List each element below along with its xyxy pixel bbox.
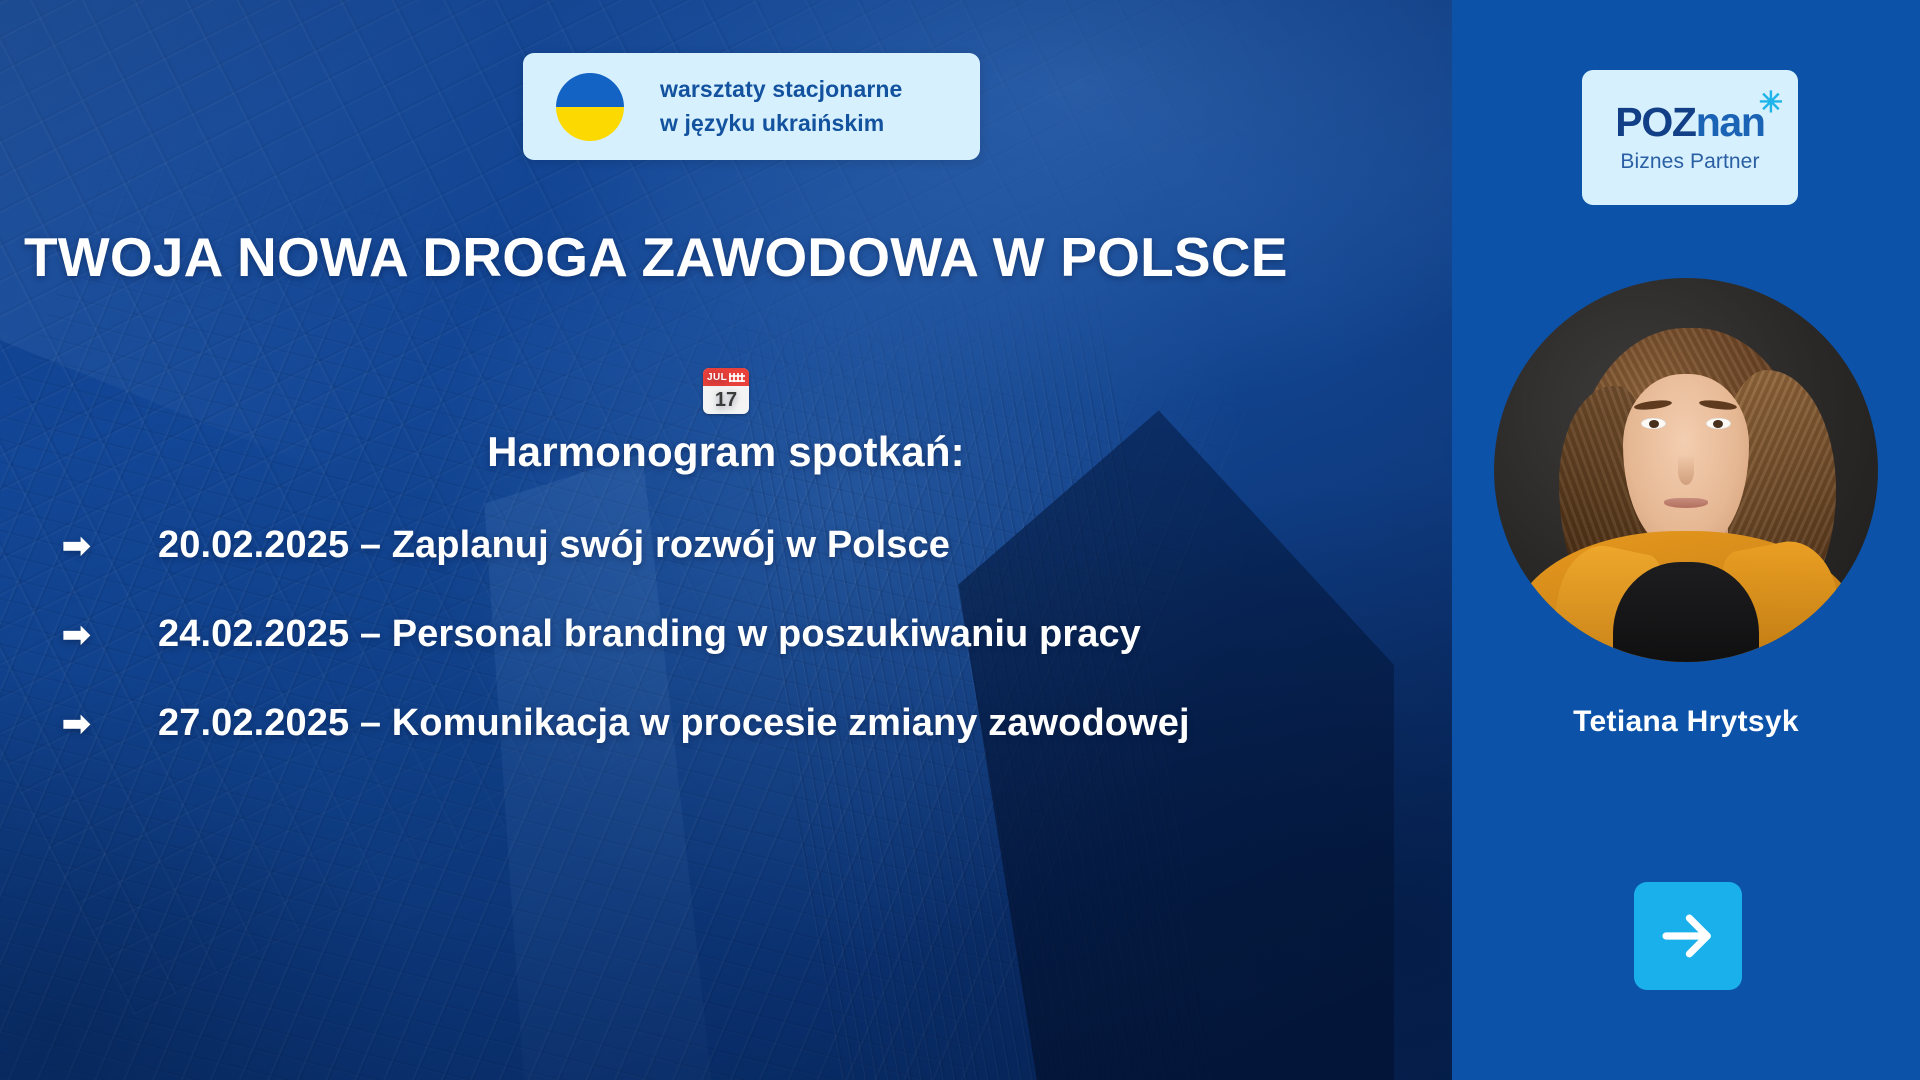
avatar [1494,278,1878,662]
schedule-item: ➡24.02.2025 – Personal branding w poszuk… [110,609,1344,660]
logo-poz-text: POZ [1615,99,1695,145]
schedule-item: ➡27.02.2025 – Komunikacja w procesie zmi… [110,698,1344,749]
badge-label: warsztaty stacjonarne w języku ukraiński… [660,73,902,140]
logo-subtitle: Biznes Partner [1620,150,1759,174]
schedule-item-text: 27.02.2025 – Komunikacja w procesie zmia… [158,702,1190,744]
portrait-pupil-left [1649,420,1659,428]
arrow-right-icon [1655,903,1721,969]
calendar-binding-dots-icon [729,373,745,382]
portrait-pupil-right [1713,420,1723,428]
speaker-name: Tetiana Hrytsyk [1452,705,1920,739]
schedule-item-text: 24.02.2025 – Personal branding w poszuki… [158,613,1141,655]
arrow-right-bullet-icon: ➡ [110,702,144,748]
portrait-mouth [1664,498,1708,508]
schedule-block: JUL 17 Harmonogram spotkań: ➡20.02.2025 … [0,368,1452,749]
arrow-right-bullet-icon: ➡ [110,524,144,570]
ukrainian-workshop-badge: warsztaty stacjonarne w języku ukraiński… [523,53,980,160]
arrow-right-button[interactable] [1634,882,1742,990]
calendar-header: JUL [703,368,749,386]
calendar-row: JUL 17 [0,368,1452,414]
schedule-list: ➡20.02.2025 – Zaplanuj swój rozwój w Pol… [0,520,1452,749]
ukraine-flag-circle-icon [556,73,624,141]
schedule-item-text: 20.02.2025 – Zaplanuj swój rozwój w Pols… [158,524,950,566]
calendar-icon: JUL 17 [703,368,749,414]
page-title: TWOJA NOWA DROGA ZAWODOWA W POLSCE [24,228,1434,286]
schedule-item: ➡20.02.2025 – Zaplanuj swój rozwój w Pol… [110,520,1344,571]
arrow-right-bullet-icon: ➡ [110,613,144,659]
calendar-month-label: JUL [707,372,727,383]
speaker-portrait [1494,278,1878,662]
logo-wordmark: POZnan✳ [1615,102,1764,143]
calendar-day-label: 17 [703,386,749,414]
schedule-heading: Harmonogram spotkań: [0,428,1452,476]
poznan-biznes-partner-logo[interactable]: POZnan✳ Biznes Partner [1582,70,1798,205]
poster-canvas: warsztaty stacjonarne w języku ukraiński… [0,0,1920,1080]
asterisk-star-icon: ✳ [1759,89,1782,118]
logo-nan-text: nan [1696,99,1765,145]
